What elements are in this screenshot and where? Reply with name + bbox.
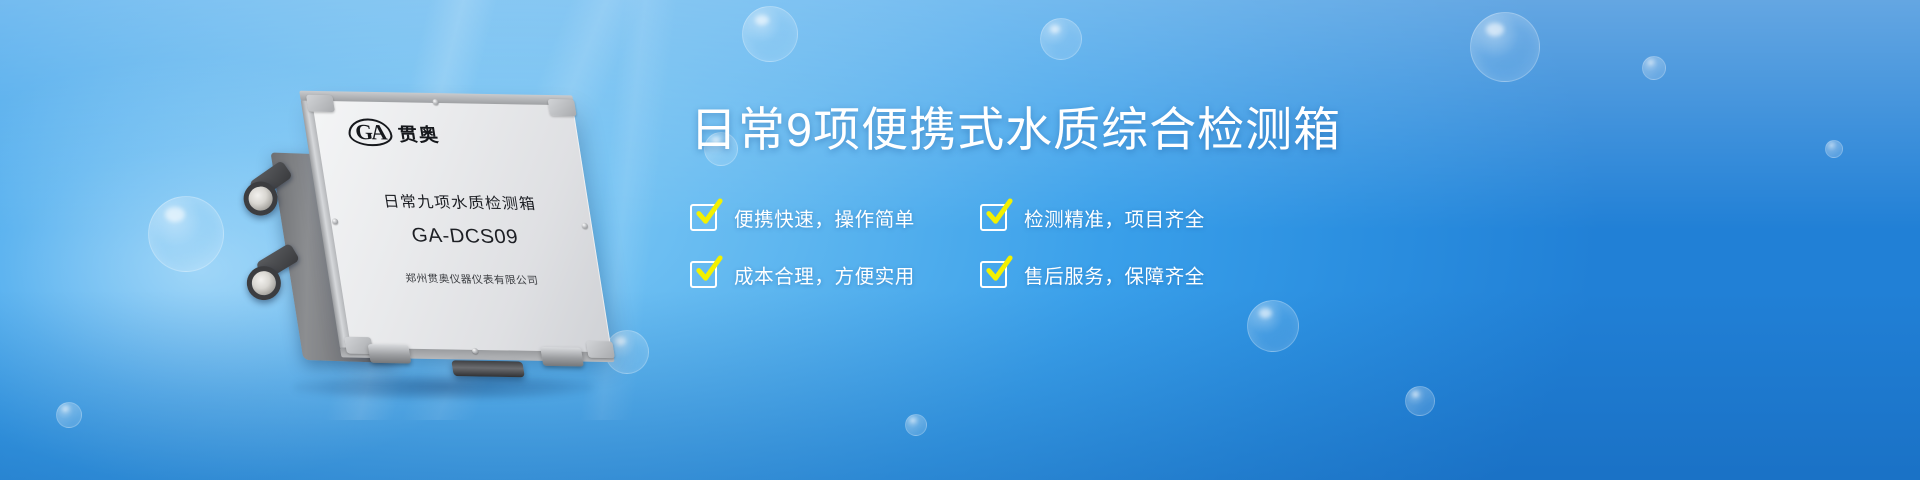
case-label: GA 贯奥 日常九项水质检测箱 GA-DCS09 郑州贯奥仪器仪表有限公司 (311, 100, 602, 289)
case-company-name: 郑州贯奥仪器仪表有限公司 (356, 270, 588, 289)
feature-list: 便携快速，操作简单检测精准，项目齐全成本合理，方便实用售后服务，保障齐全 (690, 203, 1390, 289)
feature-item: 售后服务，保障齐全 (980, 260, 1270, 289)
case-product-title: 日常九项水质检测箱 (343, 189, 576, 215)
banner-headline: 日常9项便携式水质综合检测箱 (690, 104, 1390, 157)
case-front-panel: GA 贯奥 日常九项水质检测箱 GA-DCS09 郑州贯奥仪器仪表有限公司 (311, 100, 612, 353)
ga-logo-icon: GA (346, 118, 394, 147)
case-wrapper: GA 贯奥 日常九项水质检测箱 GA-DCS09 郑州贯奥仪器仪表有限公司 (227, 50, 652, 426)
feature-item: 检测精准，项目齐全 (980, 203, 1270, 232)
checkbox-checked-icon (980, 204, 1007, 231)
corner-plate-br (586, 341, 615, 358)
feature-label: 售后服务，保障齐全 (1024, 260, 1205, 289)
water-quality-test-kit-banner: GA 贯奥 日常九项水质检测箱 GA-DCS09 郑州贯奥仪器仪表有限公司 日常… (0, 0, 1920, 480)
product-image: GA 贯奥 日常九项水质检测箱 GA-DCS09 郑州贯奥仪器仪表有限公司 (250, 78, 630, 398)
feature-item: 成本合理，方便实用 (690, 260, 980, 289)
rivet-bottom-mid (472, 348, 479, 354)
case-latch-left[interactable] (368, 344, 412, 363)
feature-label: 便携快速，操作简单 (734, 203, 915, 232)
banner-copy-block: 日常9项便携式水质综合检测箱 便携快速，操作简单检测精准，项目齐全成本合理，方便… (690, 104, 1390, 289)
checkbox-checked-icon (690, 261, 717, 288)
checkbox-checked-icon (690, 204, 717, 231)
case-latch-right[interactable] (540, 347, 584, 366)
feature-item: 便携快速，操作简单 (690, 203, 980, 232)
feature-label: 成本合理，方便实用 (734, 260, 915, 289)
case-product-model: GA-DCS09 (349, 224, 582, 251)
case-brand-row: GA 贯奥 (332, 118, 566, 150)
feature-label: 检测精准，项目齐全 (1024, 203, 1205, 232)
checkbox-checked-icon (980, 261, 1007, 288)
case-handle[interactable] (451, 360, 525, 377)
case-brand-name: 贯奥 (396, 120, 441, 147)
